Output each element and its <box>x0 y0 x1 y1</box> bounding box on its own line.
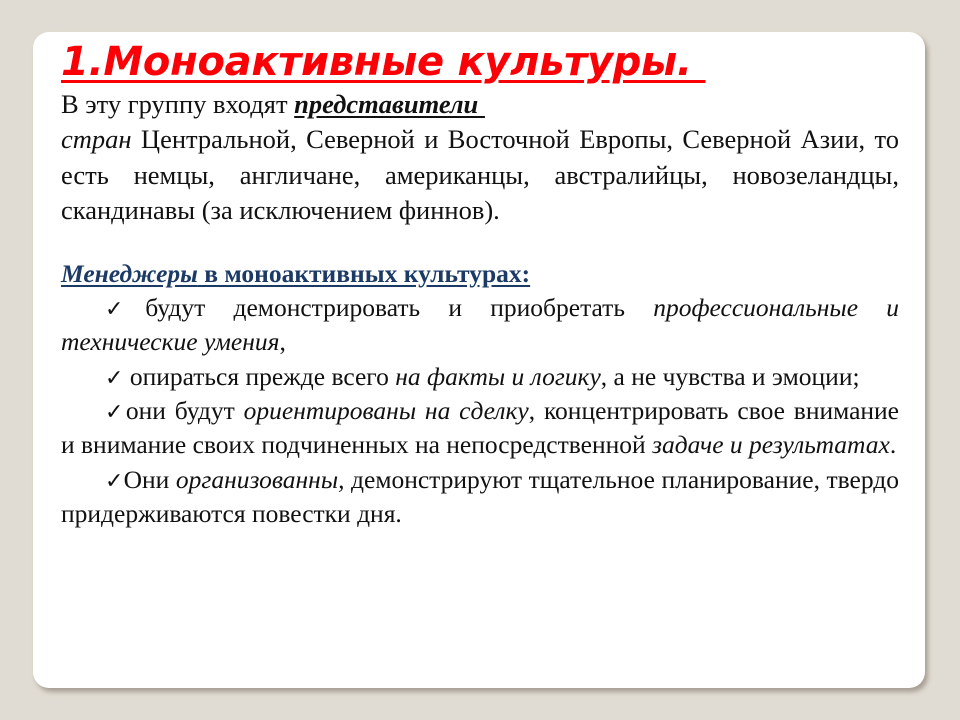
bullet-text-run: ориентированы на сделку <box>244 396 529 425</box>
subhead-rest: в моноактивных культурах: <box>198 259 530 288</box>
bullet-text-run: , а не чувства и эмоции; <box>601 362 860 391</box>
bullet-text-run: опираться прежде всего <box>130 362 395 391</box>
bullet-text-run: . <box>890 430 896 459</box>
list-item: ✓ опираться прежде всего на факты и логи… <box>61 360 899 394</box>
list-item: ✓они будут ориентированы на сделку, конц… <box>61 394 899 463</box>
managers-subheading: Менеджеры в моноактивных культурах: <box>61 257 530 290</box>
intro-italic-lead: стран <box>61 124 132 154</box>
page-title: 1.Моноактивные культуры. <box>61 40 899 85</box>
bullet-text-run: будут демонстрировать и приобретать <box>145 293 653 322</box>
bullet-text-run: , <box>279 327 285 356</box>
check-icon: ✓ <box>105 297 145 322</box>
subhead-italic-word: Менеджеры <box>61 259 198 288</box>
check-icon: ✓ <box>105 366 123 391</box>
bullet-text-run: на факты и логику <box>395 362 601 391</box>
bullet-text-run: они будут <box>126 396 244 425</box>
bullet-text-run: организованны, <box>176 465 345 494</box>
check-icon: ✓ <box>105 469 124 494</box>
list-item: ✓будут демонстрировать и приобретать про… <box>61 291 899 360</box>
content-card: 1.Моноактивные культуры. В эту группу вх… <box>33 32 925 688</box>
lead-paragraph: В эту группу входят представители <box>61 87 899 122</box>
section-spacer <box>61 229 899 257</box>
lead-text-before: В эту группу входят <box>61 89 294 119</box>
intro-paragraph: стран Центральной, Северной и Восточной … <box>61 122 899 229</box>
lead-emphasis: представители <box>294 89 485 119</box>
subhead-row: Менеджеры в моноактивных культурах: <box>61 257 899 291</box>
content-card-body: 1.Моноактивные культуры. В эту группу вх… <box>33 32 925 688</box>
intro-body-text: Центральной, Северной и Восточной Европы… <box>61 124 899 225</box>
check-icon: ✓ <box>105 400 126 425</box>
bullet-text-run: задаче и результатах <box>652 430 890 459</box>
list-item: ✓Они организованны, демонстрируют тщател… <box>61 463 899 532</box>
bullet-text-run: Они <box>124 465 176 494</box>
slide-canvas: 1.Моноактивные культуры. В эту группу вх… <box>0 0 960 720</box>
manager-traits-list: ✓будут демонстрировать и приобретать про… <box>61 291 899 531</box>
